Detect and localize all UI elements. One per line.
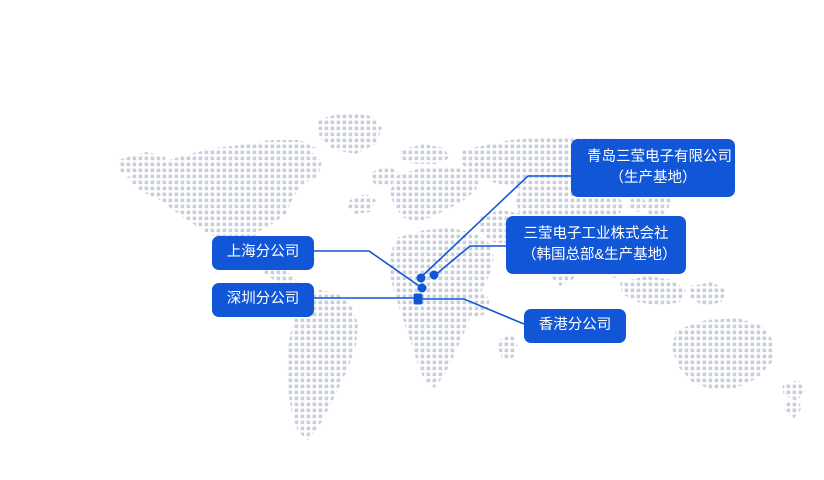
label-qingdao[interactable]: 青岛三莹电子有限公司 （生产基地）: [571, 139, 735, 197]
label-korea-hq[interactable]: 三莹电子工业株式会社 （韩国总部&生产基地）: [506, 216, 686, 274]
label-shenzhen[interactable]: 深圳分公司: [212, 283, 314, 317]
marker-shenzhen[interactable]: [414, 294, 423, 305]
label-korea-line2: （韩国总部&生产基地）: [522, 245, 670, 266]
dotted-world-map: [0, 0, 824, 480]
label-korea-line1: 三莹电子工业株式会社: [522, 224, 670, 245]
label-hongkong-text: 香港分公司: [538, 315, 612, 336]
label-shanghai-text: 上海分公司: [226, 242, 300, 263]
marker-korea[interactable]: [430, 271, 439, 280]
marker-qingdao[interactable]: [417, 274, 426, 283]
label-qingdao-line2: （生产基地）: [587, 168, 719, 189]
label-hongkong[interactable]: 香港分公司: [524, 309, 626, 343]
label-shenzhen-text: 深圳分公司: [226, 289, 300, 310]
label-shanghai[interactable]: 上海分公司: [212, 236, 314, 270]
label-qingdao-line1: 青岛三莹电子有限公司: [587, 147, 719, 168]
marker-shanghai[interactable]: [418, 284, 427, 293]
world-map-infographic: 青岛三莹电子有限公司 （生产基地） 三莹电子工业株式会社 （韩国总部&生产基地）…: [0, 0, 824, 480]
